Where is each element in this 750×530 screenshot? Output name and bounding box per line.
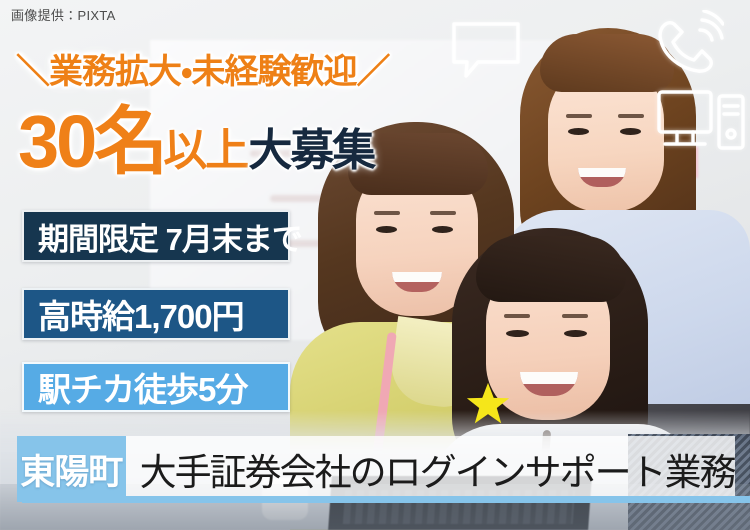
- recruit-count-headline: 30名 以上 大募集: [18, 108, 374, 176]
- footer-tail: [735, 436, 750, 502]
- image-credit: 画像提供：PIXTA: [11, 5, 116, 24]
- job-ad-banner: 画像提供：PIXTA ＼業務拡大・未経験歓迎／ 30名 以上 大募集 期間限定 …: [0, 0, 750, 530]
- footer-spacer: [0, 436, 17, 502]
- feature-chip-wage: 高時給1,700円: [22, 288, 290, 340]
- job-title: 大手証券会社のログインサポート業務: [126, 436, 735, 502]
- footer-bar: 東陽町 大手証券会社のログインサポート業務: [0, 436, 750, 502]
- recruit-suffix: 以上: [163, 129, 247, 173]
- feature-chip-access: 駅チカ徒歩5分: [22, 362, 290, 412]
- footer-underline: [22, 496, 750, 503]
- recruit-count: 30名: [18, 108, 165, 176]
- kicker-headline: ＼業務拡大・未経験歓迎／: [16, 44, 390, 93]
- phone-call-icon: [648, 10, 724, 74]
- station-badge: 東陽町: [17, 436, 126, 502]
- feature-chip-period: 期間限定 7月末まで: [22, 210, 290, 262]
- speech-bubble-icon: [450, 18, 522, 80]
- desktop-computer-icon: [655, 86, 747, 162]
- recruit-label: 大募集: [248, 129, 374, 173]
- star-icon: [466, 382, 510, 426]
